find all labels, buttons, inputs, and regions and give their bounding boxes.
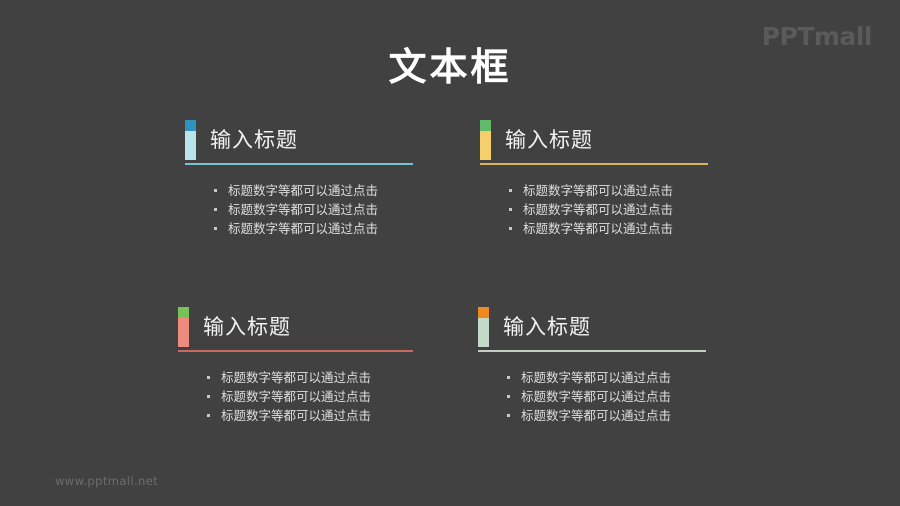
swatch-body — [478, 318, 489, 347]
text-block-3-bullets: 标题数字等都可以通过点击 标题数字等都可以通过点击 标题数字等都可以通过点击 — [204, 368, 478, 425]
list-item[interactable]: 标题数字等都可以通过点击 — [506, 219, 780, 238]
swatch-cap — [178, 307, 189, 318]
text-block-4[interactable]: 输入标题 标题数字等都可以通过点击 标题数字等都可以通过点击 标题数字等都可以通… — [478, 305, 778, 425]
list-item[interactable]: 标题数字等都可以通过点击 — [504, 406, 778, 425]
text-block-3-rule — [178, 350, 413, 352]
text-block-1[interactable]: 输入标题 标题数字等都可以通过点击 标题数字等都可以通过点击 标题数字等都可以通… — [185, 118, 485, 238]
text-block-1-header: 输入标题 — [185, 118, 485, 162]
text-block-1-bullets: 标题数字等都可以通过点击 标题数字等都可以通过点击 标题数字等都可以通过点击 — [211, 181, 485, 238]
list-item[interactable]: 标题数字等都可以通过点击 — [504, 387, 778, 406]
list-item[interactable]: 标题数字等都可以通过点击 — [204, 368, 478, 387]
list-item[interactable]: 标题数字等都可以通过点击 — [506, 200, 780, 219]
text-block-1-title: 输入标题 — [210, 130, 298, 151]
text-box-grid: 输入标题 标题数字等都可以通过点击 标题数字等都可以通过点击 标题数字等都可以通… — [0, 118, 900, 458]
list-item[interactable]: 标题数字等都可以通过点击 — [204, 387, 478, 406]
color-swatch-icon — [178, 307, 189, 347]
swatch-body — [185, 131, 196, 160]
footer-url: www.pptmall.net — [55, 474, 158, 488]
swatch-body — [178, 318, 189, 347]
color-swatch-icon — [185, 120, 196, 160]
swatch-cap — [480, 120, 491, 131]
text-block-3[interactable]: 输入标题 标题数字等都可以通过点击 标题数字等都可以通过点击 标题数字等都可以通… — [178, 305, 478, 425]
text-block-2-rule — [480, 163, 708, 165]
list-item[interactable]: 标题数字等都可以通过点击 — [204, 406, 478, 425]
list-item[interactable]: 标题数字等都可以通过点击 — [211, 200, 485, 219]
color-swatch-icon — [480, 120, 491, 160]
text-block-2-header: 输入标题 — [480, 118, 780, 162]
list-item[interactable]: 标题数字等都可以通过点击 — [211, 219, 485, 238]
text-block-2-bullets: 标题数字等都可以通过点击 标题数字等都可以通过点击 标题数字等都可以通过点击 — [506, 181, 780, 238]
list-item[interactable]: 标题数字等都可以通过点击 — [504, 368, 778, 387]
text-block-3-title: 输入标题 — [203, 317, 291, 338]
text-block-4-title: 输入标题 — [503, 317, 591, 338]
text-block-2[interactable]: 输入标题 标题数字等都可以通过点击 标题数字等都可以通过点击 标题数字等都可以通… — [480, 118, 780, 238]
list-item[interactable]: 标题数字等都可以通过点击 — [211, 181, 485, 200]
list-item[interactable]: 标题数字等都可以通过点击 — [506, 181, 780, 200]
page-title: 文本框 — [0, 36, 900, 91]
swatch-cap — [478, 307, 489, 318]
color-swatch-icon — [478, 307, 489, 347]
text-block-3-header: 输入标题 — [178, 305, 478, 349]
text-block-4-header: 输入标题 — [478, 305, 778, 349]
text-block-4-bullets: 标题数字等都可以通过点击 标题数字等都可以通过点击 标题数字等都可以通过点击 — [504, 368, 778, 425]
text-block-2-title: 输入标题 — [505, 130, 593, 151]
slide-canvas: PPTmall 文本框 输入标题 标题数字等都可以通过点击 标题数字等都可以通过… — [0, 0, 900, 506]
swatch-body — [480, 131, 491, 160]
text-block-4-rule — [478, 350, 706, 352]
text-block-1-rule — [185, 163, 413, 165]
swatch-cap — [185, 120, 196, 131]
